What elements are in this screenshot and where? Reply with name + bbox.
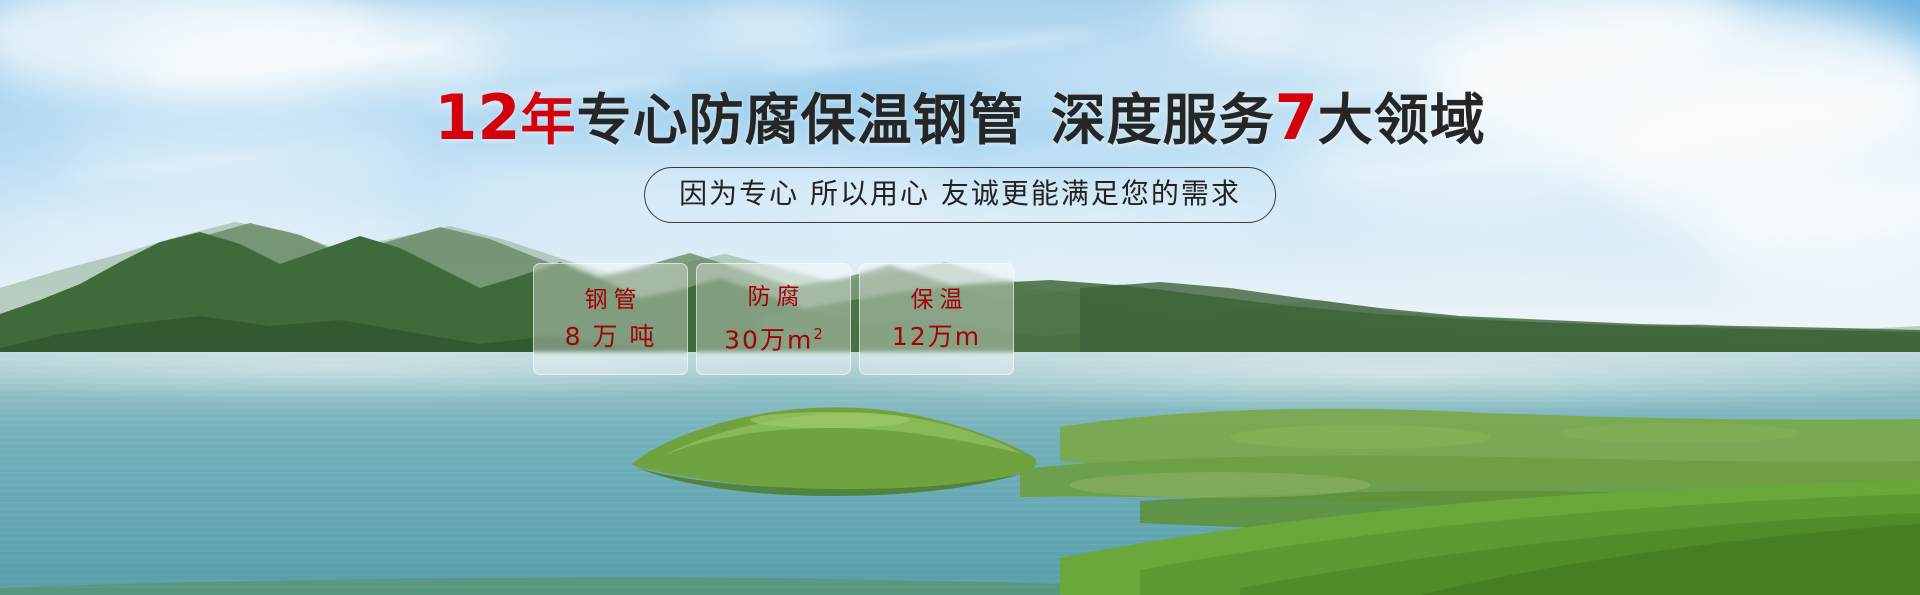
stat-card[interactable]: 保温 12万m [859, 263, 1014, 375]
stat-card-title: 保温 [905, 287, 969, 313]
headline-fields-text: 大领域 [1318, 88, 1486, 152]
headline-years-number: 12 [434, 81, 520, 154]
stat-card[interactable]: 防腐 30万m2 [696, 263, 851, 375]
headline-fields-number: 7 [1275, 81, 1318, 154]
stat-card-value-text: 12万m [892, 322, 981, 351]
headline-main-text: 专心防腐保温钢管 [577, 88, 1025, 152]
stat-card-value-text: 8 万 吨 [565, 322, 657, 351]
stat-card-value: 8 万 吨 [565, 323, 657, 351]
stat-card-value-text: 30万m [724, 325, 813, 354]
promo-banner: 12年专心防腐保温钢管深度服务7大领域 因为专心 所以用心 友诚更能满足您的需求… [0, 0, 1920, 595]
stat-card[interactable]: 钢管 8 万 吨 [533, 263, 688, 375]
stat-card-title: 钢管 [579, 287, 643, 313]
stat-card-value: 30万m2 [724, 320, 823, 354]
headline-years-unit: 年 [521, 88, 577, 152]
banner-headline: 12年专心防腐保温钢管深度服务7大领域 [0, 88, 1920, 150]
foreground-grass [0, 430, 1920, 595]
banner-subtitle-pill: 因为专心 所以用心 友诚更能满足您的需求 [644, 167, 1276, 223]
headline-service-text: 深度服务 [1051, 88, 1275, 152]
stat-card-group: 钢管 8 万 吨 防腐 30万m2 保温 12万m [533, 263, 1014, 375]
stat-card-value: 12万m [892, 323, 981, 351]
stat-card-title: 防腐 [742, 284, 806, 310]
stat-card-value-superscript: 2 [813, 325, 823, 343]
